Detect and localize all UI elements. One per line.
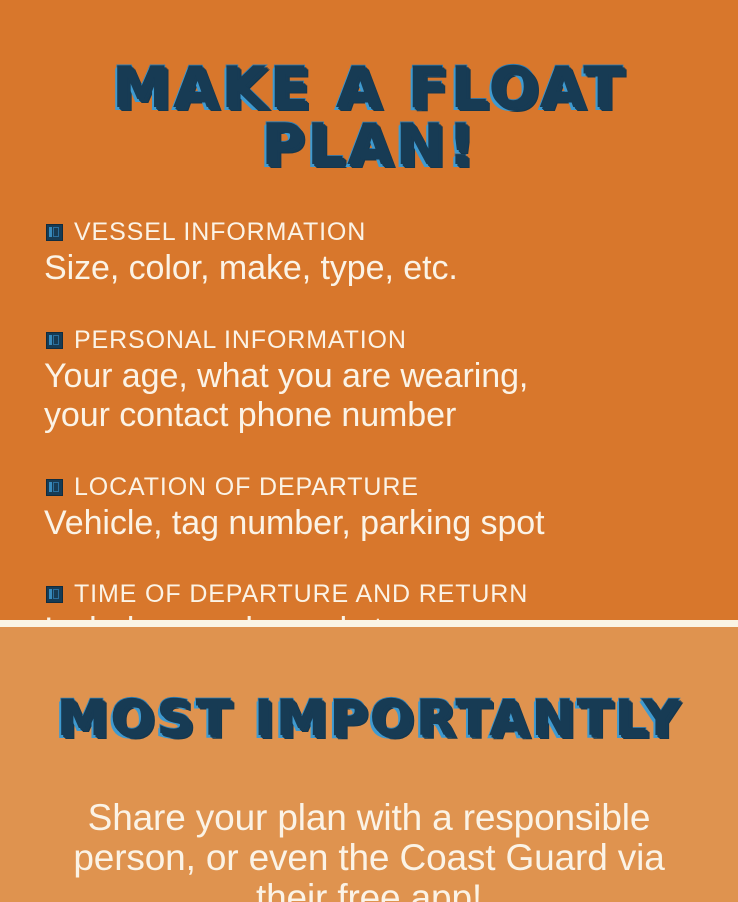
square-bullet-icon [46,224,63,241]
footer-line: their free app! [18,878,720,902]
list-item-label: LOCATION OF DEPARTURE [74,473,419,502]
list-item-heading: LOCATION OF DEPARTURE [46,473,718,502]
section-divider [0,620,738,627]
checklist: VESSEL INFORMATION Size, color, make, ty… [0,218,738,620]
description-line: Size, color, make, type, etc. [44,249,718,288]
description-line: Vehicle, tag number, parking spot [44,504,718,543]
list-item-heading: TIME OF DEPARTURE AND RETURN [46,580,718,609]
list-item-label: VESSEL INFORMATION [74,218,366,247]
list-item-heading: VESSEL INFORMATION [46,218,718,247]
footer-line: person, or even the Coast Guard via [18,838,720,878]
footer-message: Share your plan with a responsible perso… [0,790,738,902]
list-item-description: Size, color, make, type, etc. [44,249,718,288]
list-item: PERSONAL INFORMATION Your age, what you … [44,326,718,436]
list-item: LOCATION OF DEPARTURE Vehicle, tag numbe… [44,473,718,543]
square-bullet-icon [46,332,63,349]
footer-line: Share your plan with a responsible [18,798,720,838]
list-item-description: Your age, what you are wearing, your con… [44,357,718,436]
description-line: your contact phone number [44,396,718,435]
square-bullet-icon [46,586,63,603]
footer-title: MOST IMPORTANTLY [0,669,738,749]
list-item-description: Include any planned stops [44,611,718,620]
list-item: VESSEL INFORMATION Size, color, make, ty… [44,218,718,288]
checklist-panel: MAKE A FLOAT PLAN! VESSEL INFORMATION Si… [0,0,738,620]
description-line: Your age, what you are wearing, [44,357,718,396]
list-item-description: Vehicle, tag number, parking spot [44,504,718,543]
page-title: MAKE A FLOAT PLAN! [0,38,738,180]
float-plan-poster: MAKE A FLOAT PLAN! VESSEL INFORMATION Si… [0,0,738,902]
most-importantly-panel: MOST IMPORTANTLY Share your plan with a … [0,627,738,902]
list-item-heading: PERSONAL INFORMATION [46,326,718,355]
list-item: TIME OF DEPARTURE AND RETURN Include any… [44,580,718,620]
list-item-label: TIME OF DEPARTURE AND RETURN [74,580,528,609]
square-bullet-icon [46,479,63,496]
description-line: Include any planned stops [44,611,718,620]
list-item-label: PERSONAL INFORMATION [74,326,407,355]
